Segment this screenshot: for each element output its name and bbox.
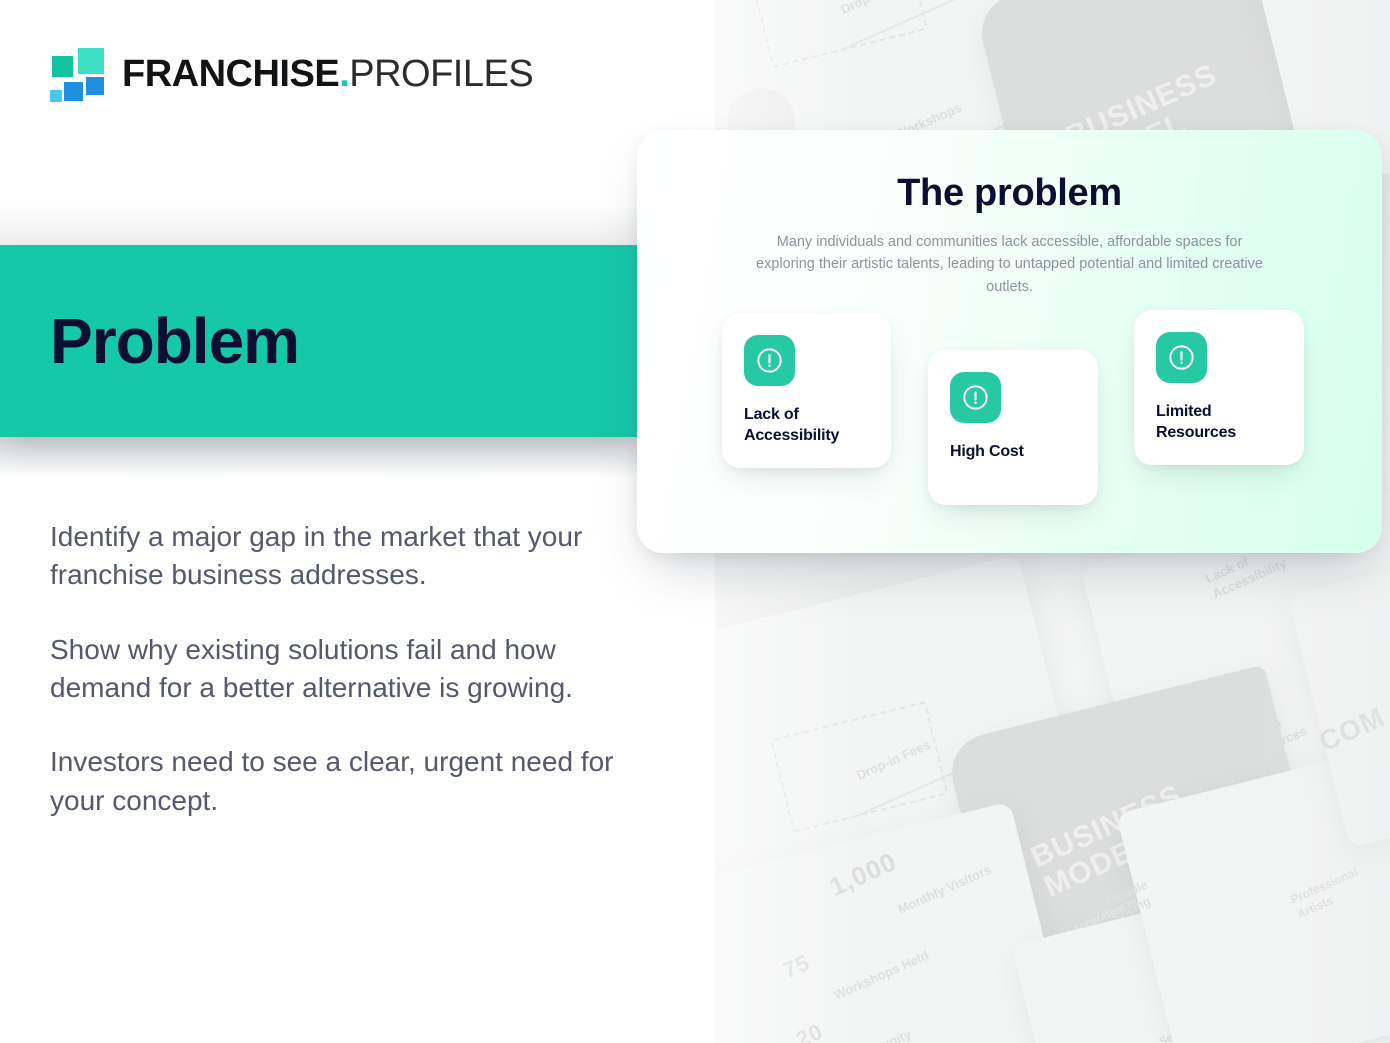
feature-card-high-cost[interactable]: High Cost bbox=[928, 350, 1098, 505]
alert-circle-icon bbox=[950, 372, 1001, 423]
banner-shadow-bottom bbox=[0, 437, 637, 479]
feature-label: Limited Resources bbox=[1156, 401, 1282, 443]
squares-mark-icon bbox=[48, 48, 104, 100]
ghost-stat: 1,000 bbox=[825, 846, 902, 903]
body-copy: Identify a major gap in the market that … bbox=[50, 518, 620, 820]
copy-paragraph: Investors need to see a clear, urgent ne… bbox=[50, 743, 620, 820]
brand-name-light: PROFILES bbox=[349, 53, 533, 95]
copy-paragraph: Show why existing solutions fail and how… bbox=[50, 631, 620, 708]
feature-card-limited-resources[interactable]: Limited Resources bbox=[1134, 310, 1304, 465]
alert-circle-icon bbox=[1156, 332, 1207, 383]
ghost-label: Workshops Held bbox=[831, 947, 931, 1002]
ghost-label: Professional Artists bbox=[1288, 861, 1374, 922]
card-title: The problem bbox=[637, 172, 1382, 215]
feature-card-lack-of-accessibility[interactable]: Lack of Accessibility bbox=[722, 313, 891, 468]
feature-label: Lack of Accessibility bbox=[744, 404, 869, 446]
ghost-label: Monthly Visitors bbox=[895, 862, 993, 917]
ghost-label: Community Partnerships bbox=[842, 1011, 956, 1043]
ghost-stat: 75 bbox=[779, 950, 814, 985]
slide-canvas: Drop-in Fees Session Workshops Commissio… bbox=[0, 0, 1390, 1043]
feature-label: High Cost bbox=[950, 441, 1076, 462]
alert-circle-icon bbox=[744, 335, 795, 386]
banner-shadow-top bbox=[0, 205, 637, 245]
brand-wordmark: FRANCHISE.PROFILES bbox=[122, 55, 533, 93]
brand-name-bold: FRANCHISE bbox=[122, 53, 339, 95]
brand-name-dot: . bbox=[339, 53, 349, 95]
ghost-stat: 20 bbox=[792, 1018, 827, 1043]
problem-banner: Problem bbox=[0, 245, 637, 437]
page-title: Problem bbox=[50, 309, 299, 373]
card-subtitle: Many individuals and communities lack ac… bbox=[750, 231, 1270, 298]
problem-preview-card: The problem Many individuals and communi… bbox=[637, 130, 1382, 553]
brand-logo[interactable]: FRANCHISE.PROFILES bbox=[48, 48, 533, 100]
copy-paragraph: Identify a major gap in the market that … bbox=[50, 518, 620, 595]
ghost-title: COM bbox=[1314, 701, 1389, 758]
